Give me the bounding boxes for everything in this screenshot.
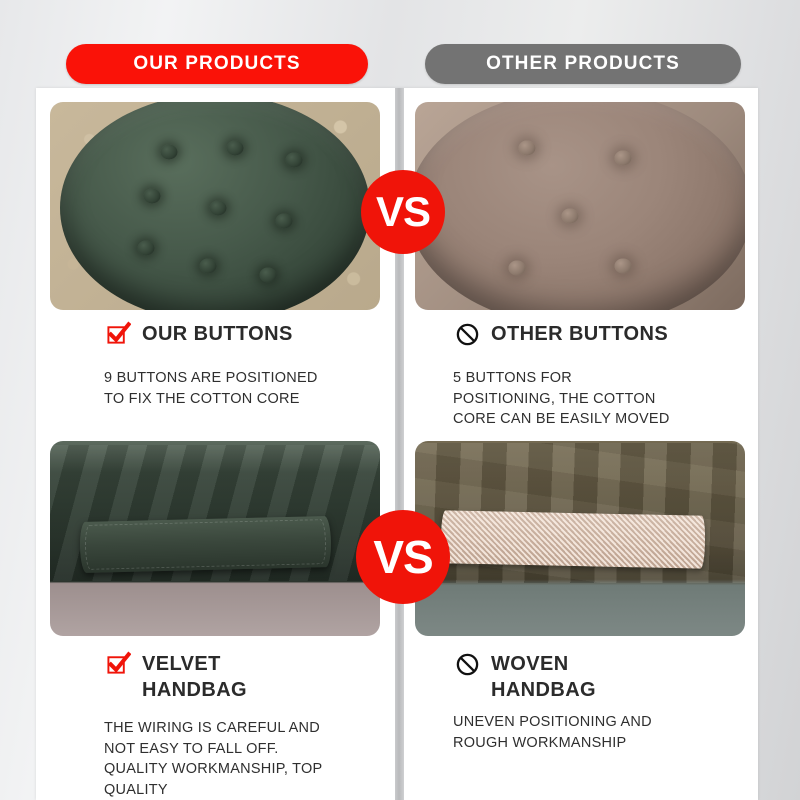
prohibition-icon (455, 652, 480, 677)
red-check-box-icon (106, 321, 131, 346)
tuft-button (562, 209, 579, 224)
green-velvet-handbag-photo (50, 441, 380, 636)
our-buttons-heading: OUR BUTTONS (106, 320, 293, 347)
velvet-strap (79, 516, 331, 573)
other-buttons-heading: OTHER BUTTONS (455, 320, 668, 347)
tuft-button (137, 240, 154, 255)
tuft-button (200, 259, 217, 274)
velvet-handbag-description: THE WIRING IS CAREFUL AND NOT EASY TO FA… (104, 718, 380, 800)
tuft-button (259, 267, 276, 282)
vs-badge-row1: VS (361, 170, 445, 254)
our-products-column: OUR BUTTONS 9 BUTTONS ARE POSITIONED TO … (36, 88, 395, 800)
other-buttons-description: 5 BUTTONS FOR POSITIONING, THE COTTON CO… (453, 368, 743, 430)
our-buttons-description: 9 BUTTONS ARE POSITIONED TO FIX THE COTT… (104, 368, 380, 409)
heading-text: OUR BUTTONS (142, 320, 293, 347)
tuft-button (614, 151, 631, 166)
woven-handbag-cell: WOVEN HANDBAG UNEVEN POSITIONING AND ROU… (399, 432, 758, 800)
tuft-button (286, 153, 303, 168)
cushion-body (415, 102, 745, 310)
woven-handbag-heading: WOVEN HANDBAG (455, 650, 596, 704)
our-buttons-cell: OUR BUTTONS 9 BUTTONS ARE POSITIONED TO … (36, 88, 395, 432)
tuft-button (519, 140, 536, 155)
our-products-badge: OUR PRODUCTS (66, 44, 368, 84)
tuft-button (144, 188, 161, 203)
taupe-tufted-cushion-photo (415, 102, 745, 310)
olive-woven-handbag-photo (415, 441, 745, 636)
heading-text: OTHER BUTTONS (491, 320, 668, 347)
header-badge-row: OUR PRODUCTS OTHER PRODUCTS (0, 44, 800, 86)
other-products-column: OTHER BUTTONS 5 BUTTONS FOR POSITIONING,… (399, 88, 758, 800)
tuft-button (210, 201, 227, 216)
tuft-button (160, 144, 177, 159)
prohibition-icon (455, 322, 480, 347)
other-buttons-cell: OTHER BUTTONS 5 BUTTONS FOR POSITIONING,… (399, 88, 758, 432)
tuft-button (276, 213, 293, 228)
red-check-box-icon (106, 651, 131, 676)
woven-strap (441, 510, 706, 568)
tuft-button (226, 140, 243, 155)
tuft-button (509, 261, 526, 276)
velvet-handbag-cell: VELVET HANDBAG THE WIRING IS CAREFUL AND… (36, 432, 395, 800)
vs-badge-row2: VS (356, 510, 450, 604)
tuft-button (614, 259, 631, 274)
infographic-canvas: OUR PRODUCTS OTHER PRODUCTS (0, 0, 800, 800)
green-tufted-cushion-photo (50, 102, 380, 310)
heading-text: VELVET HANDBAG (142, 650, 247, 704)
other-products-badge: OTHER PRODUCTS (425, 44, 741, 84)
woven-handbag-description: UNEVEN POSITIONING AND ROUGH WORKMANSHIP (453, 712, 743, 753)
heading-text: WOVEN HANDBAG (491, 650, 596, 704)
velvet-handbag-heading: VELVET HANDBAG (106, 650, 247, 704)
